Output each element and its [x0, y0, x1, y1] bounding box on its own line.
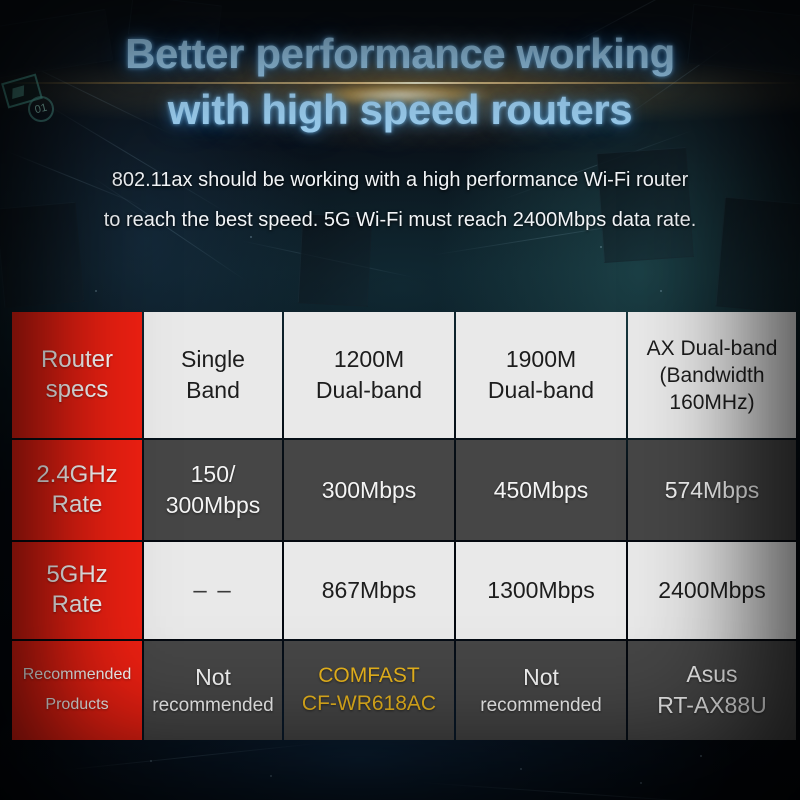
cell-5ghz-single-band: – –	[144, 542, 282, 639]
page-title: Better performance working with high spe…	[0, 26, 800, 138]
table-row-5ghz-rate: 5GHz Rate – – 867Mbps 1300Mbps 2400Mbps	[12, 542, 796, 639]
cell-recommended-1200m: COMFAST CF-WR618AC	[284, 641, 454, 740]
column-header-1900m-dual-band: 1900M Dual-band	[456, 312, 626, 438]
cell-5ghz-1900m: 1300Mbps	[456, 542, 626, 639]
router-spec-comparison-table: Router specs Single Band 1200M Dual-band…	[10, 310, 798, 742]
page-title-line-2: with high speed routers	[0, 82, 800, 138]
cell-recommended-1900m: Not recommended	[456, 641, 626, 740]
column-header-single-band: Single Band	[144, 312, 282, 438]
column-header-1200m-dual-band: 1200M Dual-band	[284, 312, 454, 438]
cell-24ghz-1900m: 450Mbps	[456, 440, 626, 539]
table-row-recommended-products: Recommended Products Not recommended COM…	[12, 641, 796, 740]
cell-24ghz-ax: 574Mbps	[628, 440, 796, 539]
table-row-header: Router specs Single Band 1200M Dual-band…	[12, 312, 796, 438]
page-subtitle-line-1: 802.11ax should be working with a high p…	[40, 160, 760, 200]
table-row-24ghz-rate: 2.4GHz Rate 150/ 300Mbps 300Mbps 450Mbps…	[12, 440, 796, 539]
page-title-line-1: Better performance working	[0, 26, 800, 82]
cell-recommended-ax: Asus RT-AX88U	[628, 641, 796, 740]
cell-5ghz-1200m: 867Mbps	[284, 542, 454, 639]
cell-24ghz-1200m: 300Mbps	[284, 440, 454, 539]
cell-5ghz-ax: 2400Mbps	[628, 542, 796, 639]
column-header-ax-dual-band: AX Dual-band (Bandwidth 160MHz)	[628, 312, 796, 438]
row-label-line-1: Router	[18, 345, 136, 375]
promo-banner: 01 Better performance working with high …	[0, 0, 800, 800]
page-subtitle: 802.11ax should be working with a high p…	[40, 160, 760, 240]
page-subtitle-line-2: to reach the best speed. 5G Wi-Fi must r…	[40, 200, 760, 240]
row-header-recommended-products: Recommended Products	[12, 641, 142, 740]
cell-recommended-single-band: Not recommended	[144, 641, 282, 740]
row-header-24ghz-rate: 2.4GHz Rate	[12, 440, 142, 539]
row-header-5ghz-rate: 5GHz Rate	[12, 542, 142, 639]
cell-24ghz-single-band: 150/ 300Mbps	[144, 440, 282, 539]
row-header-router-specs: Router specs	[12, 312, 142, 438]
row-label-line-2: specs	[18, 375, 136, 405]
